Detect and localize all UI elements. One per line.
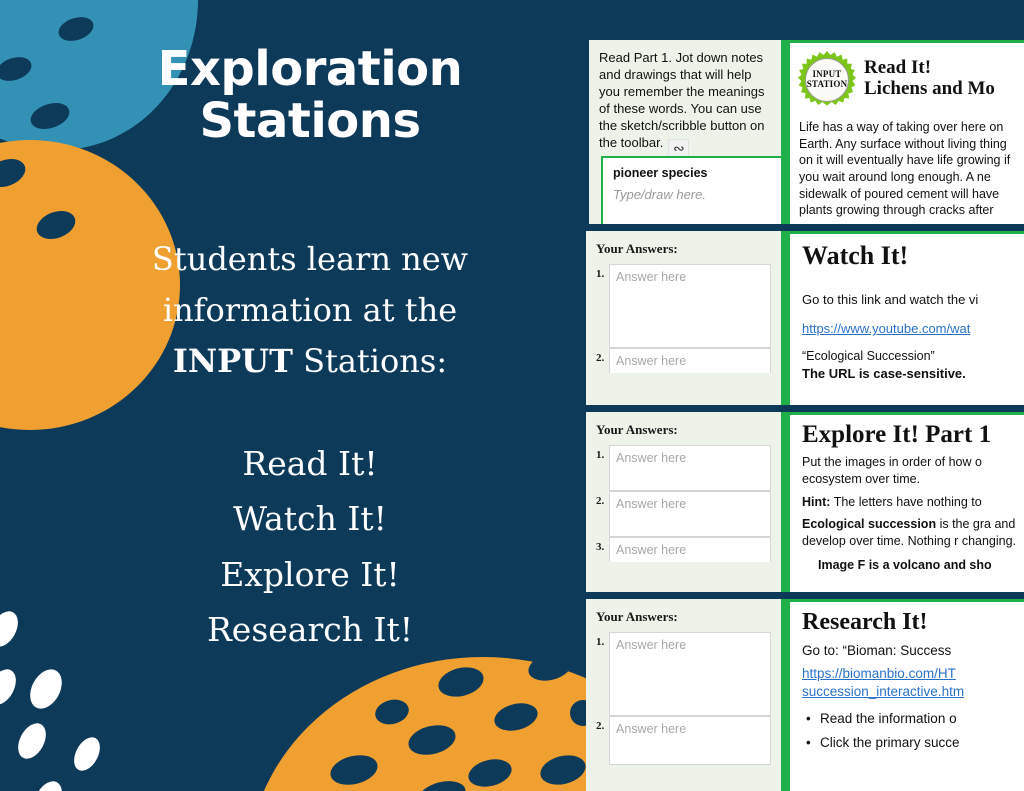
read-it-content: INPUT STATION Read It! Lichens and Mo Li… — [781, 40, 1024, 224]
answer-input[interactable]: Answer here — [609, 348, 771, 373]
subtitle-line-2: information at the — [80, 285, 540, 336]
definition-text: is the gra — [936, 517, 991, 531]
panel-research-it[interactable]: Your Answers: 1. Answer here 2. Answer h… — [586, 599, 1024, 791]
headline-column: Exploration Stations Students learn new … — [60, 0, 560, 791]
input-station-badge-icon: INPUT STATION — [798, 51, 856, 109]
answer-number: 3. — [596, 537, 609, 553]
answer-row[interactable]: 2. Answer here — [596, 491, 771, 516]
research-bullet: Click the primary succe — [802, 735, 1024, 750]
explore-it-image-note: Image F is a volcano and sho — [802, 557, 1024, 574]
answer-input[interactable]: Answer here — [609, 632, 771, 657]
read-it-title: Read It! Lichens and Mo — [864, 51, 995, 100]
subtitle-line-3: INPUT Stations: — [80, 336, 540, 387]
read-it-title-line-2: Lichens and Mo — [864, 78, 995, 99]
explore-it-instruction-line-2: ecosystem over time. — [802, 472, 920, 486]
vocab-card[interactable]: pioneer species Type/draw here. — [601, 156, 783, 224]
subtitle-emphasis: INPUT — [173, 342, 293, 380]
panel-watch-it[interactable]: Your Answers: 1. Answer here 2. Answer h… — [586, 231, 1024, 405]
answer-extension[interactable] — [609, 289, 771, 348]
answer-input[interactable]: Answer here — [609, 264, 771, 289]
answers-heading: Your Answers: — [596, 609, 771, 625]
answer-extension[interactable] — [609, 741, 771, 765]
answer-extension[interactable] — [609, 470, 771, 491]
notes-instructions: Read Part 1. Jot down notes and drawings… — [599, 49, 771, 161]
research-it-title: Research It! — [802, 610, 1024, 635]
research-it-intro: Go to: “Bioman: Success — [802, 643, 1024, 658]
explore-it-title: Explore It! Part 1 — [802, 422, 1024, 448]
explore-it-instruction-line-1: Put the images in order of how o — [802, 455, 982, 469]
research-bullet: Read the information o — [802, 711, 1024, 726]
answer-number: 2. — [596, 716, 609, 732]
teal-blob-dot — [0, 53, 35, 85]
white-dot — [0, 607, 24, 652]
read-it-body: Life has a way of taking over here on Ea… — [790, 109, 1024, 219]
read-it-header: INPUT STATION Read It! Lichens and Mo — [790, 43, 1024, 109]
badge-label: INPUT STATION — [805, 58, 849, 102]
hint-text: The letters have nothing to — [830, 495, 981, 509]
read-it-title-line-1: Read It! — [864, 57, 995, 78]
notes-instructions-text: Read Part 1. Jot down notes and drawings… — [599, 50, 765, 150]
answers-heading: Your Answers: — [596, 241, 771, 257]
badge-line-2: STATION — [807, 80, 848, 90]
answers-column: Your Answers: 1. Answer here 2. Answer h… — [586, 599, 781, 791]
white-dot — [12, 719, 51, 764]
notes-column: Read Part 1. Jot down notes and drawings… — [586, 40, 781, 224]
answer-row[interactable]: 2. Answer here — [596, 716, 771, 741]
hint-label: Hint: — [802, 495, 830, 509]
panel-explore-it[interactable]: Your Answers: 1. Answer here 2. Answer h… — [586, 412, 1024, 592]
bioman-link-line-1: https://biomanbio.com/HT — [802, 666, 956, 681]
panel-read-it[interactable]: Read Part 1. Jot down notes and drawings… — [586, 40, 1024, 224]
answer-input[interactable]: Answer here — [609, 491, 771, 516]
station-item-explore: Explore It! — [80, 547, 540, 602]
answer-row[interactable]: 1. Answer here — [596, 632, 771, 657]
answer-row[interactable]: 1. Answer here — [596, 264, 771, 289]
white-dot — [0, 665, 22, 710]
watch-it-intro: Go to this link and watch the vi — [802, 292, 1024, 307]
answer-number: 1. — [596, 445, 609, 461]
explore-it-instruction: Put the images in order of how o ecosyst… — [802, 454, 1024, 487]
answers-column: Your Answers: 1. Answer here 2. Answer h… — [586, 412, 781, 592]
station-list: Read It! Watch It! Explore It! Research … — [80, 436, 540, 658]
subtitle-tail: Stations: — [293, 342, 447, 380]
screenshot-stack: Read Part 1. Jot down notes and drawings… — [586, 0, 1024, 791]
title-line-2: Stations — [60, 96, 560, 148]
answer-input[interactable]: Answer here — [609, 537, 771, 562]
answer-input[interactable]: Answer here — [609, 445, 771, 470]
answer-number: 2. — [596, 348, 609, 364]
orange-blob-notch — [0, 154, 29, 192]
explore-it-content: Explore It! Part 1 Put the images in ord… — [781, 412, 1024, 592]
poster-canvas: Exploration Stations Students learn new … — [0, 0, 1024, 791]
definition-line-4: changing. — [962, 534, 1016, 548]
station-item-watch: Watch It! — [80, 491, 540, 546]
subtitle-line-1: Students learn new — [80, 234, 540, 285]
answer-row[interactable]: 3. Answer here — [596, 537, 771, 562]
explore-it-hint: Hint: The letters have nothing to — [802, 494, 1024, 511]
answer-number: 1. — [596, 632, 609, 648]
watch-it-video-title: “Ecological Succession” — [802, 349, 1024, 363]
answers-column: Your Answers: 1. Answer here 2. Answer h… — [586, 231, 781, 405]
answer-number: 2. — [596, 491, 609, 507]
answer-input[interactable]: Answer here — [609, 716, 771, 741]
title-line-1: Exploration — [60, 44, 560, 96]
answer-row[interactable]: 2. Answer here — [596, 348, 771, 373]
youtube-link[interactable]: https://www.youtube.com/wat — [802, 321, 1024, 336]
station-item-research: Research It! — [80, 602, 540, 657]
research-it-content: Research It! Go to: “Bioman: Success htt… — [781, 599, 1024, 791]
subtitle-text: Students learn new information at the IN… — [80, 234, 540, 388]
vocab-input-placeholder[interactable]: Type/draw here. — [613, 187, 773, 202]
watch-it-url-note: The URL is case-sensitive. — [802, 366, 1024, 381]
answer-number: 1. — [596, 264, 609, 280]
vocab-word: pioneer species — [613, 166, 773, 180]
watch-it-title: Watch It! — [802, 242, 1024, 269]
definition-term: Ecological succession — [802, 517, 936, 531]
answer-extension[interactable] — [609, 516, 771, 537]
answer-row[interactable]: 1. Answer here — [596, 445, 771, 470]
answers-heading: Your Answers: — [596, 422, 771, 438]
bioman-link[interactable]: https://biomanbio.com/HT succession_inte… — [802, 665, 1024, 701]
bioman-link-line-2: succession_interactive.htm — [802, 684, 964, 699]
page-title: Exploration Stations — [60, 44, 560, 148]
watch-it-content: Watch It! Go to this link and watch the … — [781, 231, 1024, 405]
explore-it-definition: Ecological succession is the gra and dev… — [802, 516, 1024, 549]
station-item-read: Read It! — [80, 436, 540, 491]
answer-extension[interactable] — [609, 657, 771, 716]
